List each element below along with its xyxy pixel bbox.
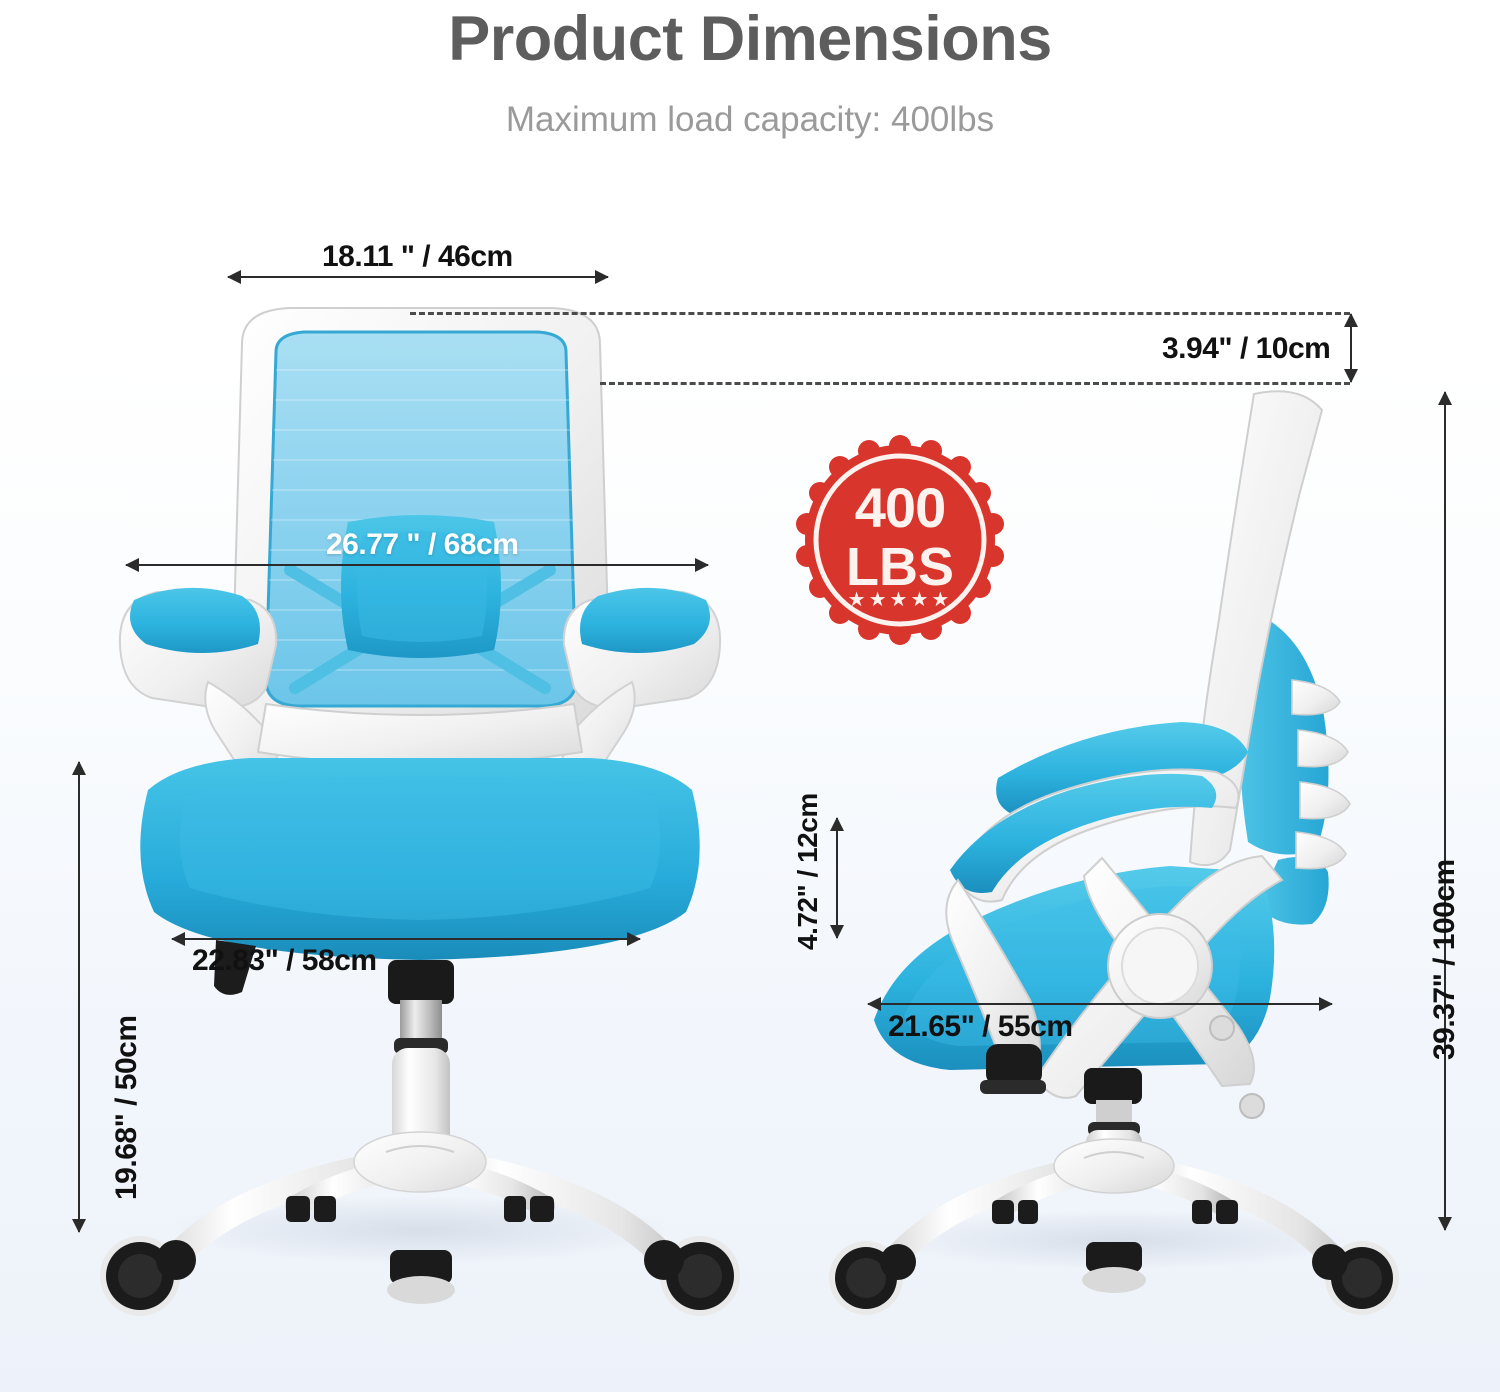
dim-label-overall-width: 26.77 " / 68cm [326, 528, 518, 562]
page-title: Product Dimensions [0, 6, 1500, 72]
dim-label-overall-height: 39.37" / 100cm [1428, 859, 1462, 1060]
caster-front-left [100, 1236, 196, 1316]
caster-front-right-side [1312, 1241, 1399, 1315]
dim-arrow-overall-height [1444, 392, 1446, 1230]
dim-arrow-armrest-height [836, 818, 838, 938]
caster-center [387, 1250, 455, 1304]
dim-label-seat-height: 19.68" / 50cm [110, 1015, 144, 1200]
page-subtitle: Maximum load capacity: 400lbs [0, 100, 1500, 140]
cylinder-cap [388, 960, 454, 1004]
dim-arrow-seat-height [78, 762, 80, 1232]
dim-arrow-overall-width [126, 564, 708, 566]
load-capacity-badge: 400 LBS ★★★★★ [800, 440, 1000, 640]
depth-guide-bottom [600, 382, 1350, 385]
dim-arrow-backrest-width [228, 276, 608, 278]
dim-label-base-depth-side: 21.65" / 55cm [888, 1010, 1073, 1044]
caster-front-right [644, 1236, 740, 1316]
adjust-screw-lower [1240, 1094, 1264, 1118]
depth-guide-top [410, 312, 1350, 315]
caster-center-side [1082, 1242, 1146, 1293]
adjust-screw-upper [1210, 1016, 1234, 1040]
base-hub-side [1054, 1139, 1174, 1193]
height-lever [980, 1044, 1046, 1094]
caster-front-left-side [829, 1241, 916, 1315]
cylinder-chrome [400, 1000, 442, 1042]
badge-stars: ★★★★★ [800, 590, 1000, 610]
front-view-chair [90, 300, 750, 1290]
badge-unit: LBS [846, 540, 954, 594]
dim-label-backrest-depth: 3.94" / 10cm [1162, 332, 1330, 366]
dim-label-armrest-height: 4.72" / 12cm [792, 793, 824, 950]
cylinder-cap-side [1084, 1068, 1142, 1104]
dim-arrow-base-depth-side [868, 1003, 1332, 1005]
dim-arrow-base-width-front [172, 938, 640, 940]
dim-arrow-backrest-depth [1350, 314, 1352, 382]
dim-label-base-width-front: 22.83" / 58cm [192, 944, 377, 978]
seat-highlight [180, 776, 660, 920]
product-dimensions-infographic: Product Dimensions Maximum load capacity… [0, 0, 1500, 1392]
dim-label-backrest-width: 18.11 " / 46cm [322, 240, 513, 274]
badge-value: 400 [855, 480, 945, 536]
base-hub [354, 1132, 486, 1192]
